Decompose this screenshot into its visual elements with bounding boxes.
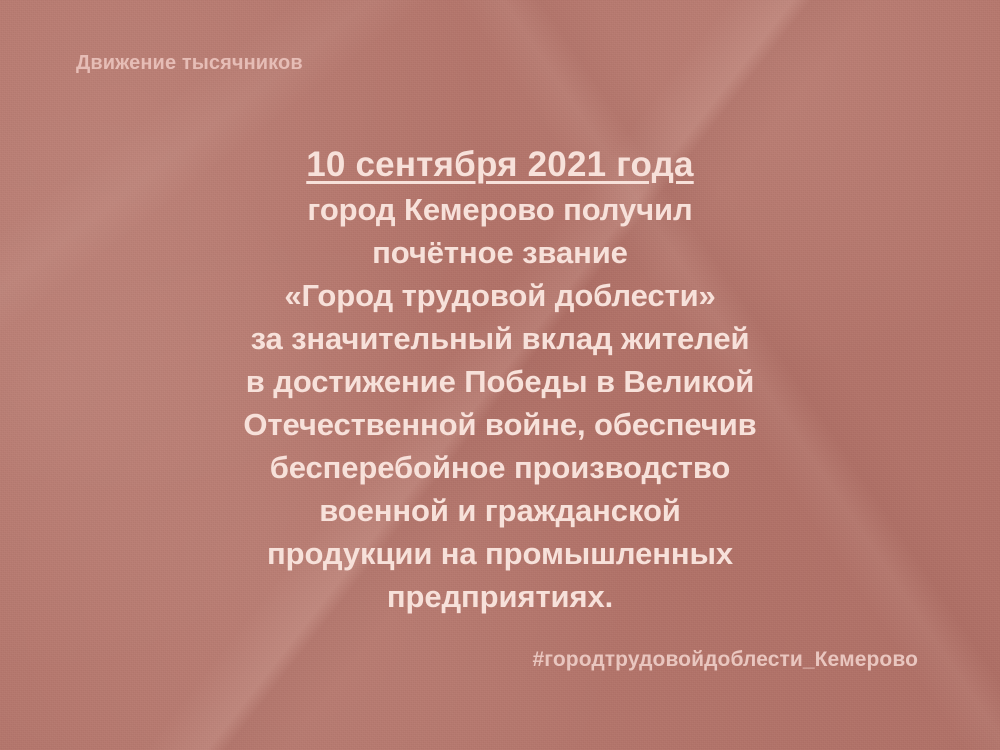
body-line-3: почётное звание bbox=[0, 231, 1000, 274]
body-line-4: «Город трудовой доблести» bbox=[0, 274, 1000, 317]
hashtag-label: #городтрудовойдоблести_Кемерово bbox=[533, 648, 918, 672]
body-text-block: 10 сентября 2021 года город Кемерово пол… bbox=[0, 141, 1000, 618]
body-line-7: Отечественной войне, обеспечив bbox=[0, 403, 1000, 446]
body-line-8: бесперебойное производство bbox=[0, 446, 1000, 489]
body-line-6: в достижение Победы в Великой bbox=[0, 360, 1000, 403]
kicker-label: Движение тысячников bbox=[76, 52, 303, 75]
body-line-9: военной и гражданской bbox=[0, 489, 1000, 532]
body-line-11: предприятиях. bbox=[0, 575, 1000, 618]
body-line-2: город Кемерово получил bbox=[0, 188, 1000, 231]
body-line-5: за значительный вклад жителей bbox=[0, 317, 1000, 360]
body-line-title: 10 сентября 2021 года bbox=[0, 141, 1000, 188]
body-line-10: продукции на промышленных bbox=[0, 532, 1000, 575]
slide-content: Движение тысячников 10 сентября 2021 год… bbox=[0, 0, 1000, 750]
slide-canvas: Движение тысячников 10 сентября 2021 год… bbox=[0, 0, 1000, 750]
